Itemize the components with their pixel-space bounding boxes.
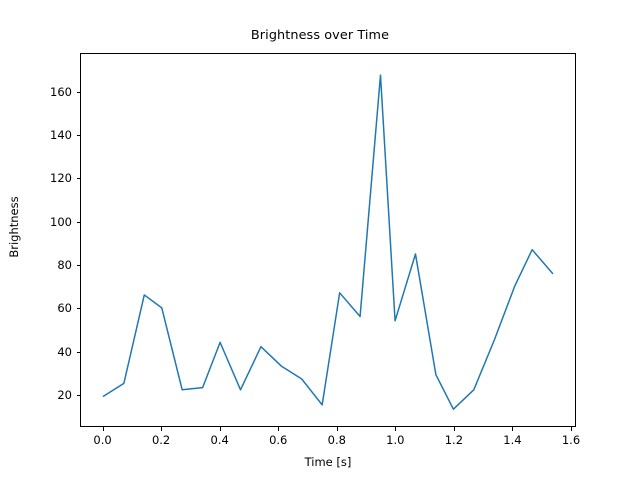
y-tick-mark [77,395,81,396]
y-tick-label: 40 [28,345,72,359]
x-axis-label: Time [s] [80,455,576,469]
x-tick-label: 1.4 [503,433,521,447]
x-tick-mark [220,427,221,431]
y-tick-label: 60 [28,301,72,315]
x-tick-label: 0.6 [269,433,287,447]
x-tick-mark [571,427,572,431]
page-title: Brightness over Time [0,28,640,43]
y-tick-label: 20 [28,388,72,402]
x-tick-mark [103,427,104,431]
data-series-brightness [103,75,552,409]
x-tick-mark [161,427,162,431]
y-tick-label: 120 [28,171,72,185]
x-tick-label: 0.8 [328,433,346,447]
y-tick-mark [77,308,81,309]
y-tick-mark [77,92,81,93]
x-tick-mark [454,427,455,431]
x-tick-label: 0.2 [152,433,170,447]
y-tick-label: 80 [28,258,72,272]
y-axis-label: Brightness [7,147,21,307]
x-tick-label: 1.2 [445,433,463,447]
y-tick-mark [77,135,81,136]
x-tick-label: 0.0 [93,433,111,447]
y-tick-mark [77,352,81,353]
x-tick-label: 1.0 [386,433,404,447]
x-tick-mark [337,427,338,431]
x-tick-mark [278,427,279,431]
line-plot [81,54,575,426]
x-tick-mark [512,427,513,431]
y-tick-mark [77,222,81,223]
plot-axes [80,53,576,427]
x-tick-label: 0.4 [211,433,229,447]
y-tick-label: 100 [28,215,72,229]
x-tick-mark [395,427,396,431]
y-tick-label: 160 [28,85,72,99]
matplotlib-figure: Brightness over Time 2040608010012014016… [0,0,640,480]
y-tick-mark [77,265,81,266]
x-tick-label: 1.6 [562,433,580,447]
y-tick-mark [77,178,81,179]
y-tick-label: 140 [28,128,72,142]
